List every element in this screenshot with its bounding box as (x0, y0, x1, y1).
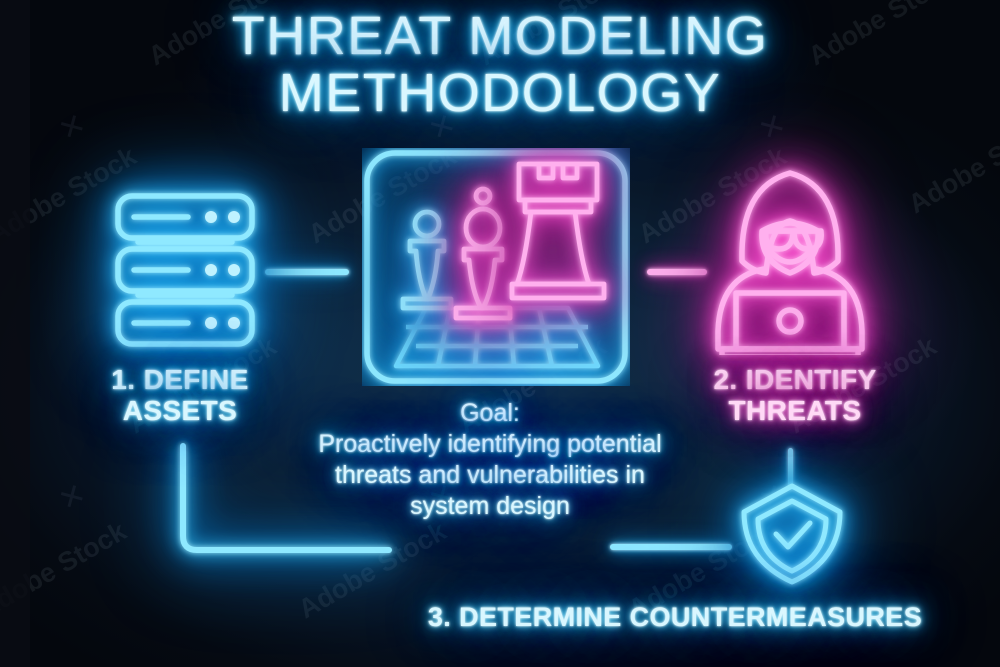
goal-line-2: threats and vulnerabilities in (335, 461, 645, 489)
connector-board-to-threats (647, 269, 707, 275)
goal-line-1: Proactively identifying potential (318, 430, 661, 458)
connector-assets-to-board (265, 269, 349, 275)
page-title-line-2: METHODOLOGY (279, 63, 722, 123)
sidebar-item-determine-countermeasures: 3. DETERMINE COUNTERMEASURES (350, 603, 1000, 633)
chessboard-pieces-icon (362, 148, 630, 386)
watermark-mark: ✕ (53, 476, 92, 519)
label-threats-line-1: 2. IDENTIFY (713, 364, 876, 395)
goal-text-block: Goal: Proactively identifying potential … (230, 398, 750, 522)
page-title: THREAT MODELING METHODOLOGY (0, 8, 1000, 121)
label-assets-line-1: 1. DEFINE (111, 364, 248, 395)
label-countermeasures-text: 3. DETERMINE COUNTERMEASURES (428, 602, 922, 632)
goal-line-3: system design (410, 492, 570, 520)
shield-check-icon (738, 482, 846, 586)
goal-heading: Goal: (230, 398, 750, 429)
hacker-hoodie-laptop-icon (700, 165, 880, 355)
watermark-bar: Adobe Stock | #1622705811 (0, 0, 30, 667)
poster-canvas: Adobe Stock Adobe Stock Adobe Stock Adob… (0, 0, 1000, 667)
page-title-line-1: THREAT MODELING (232, 6, 769, 66)
label-assets-line-2: ASSETS (123, 395, 237, 426)
connector-goal-to-shield (610, 544, 732, 550)
watermark-tile: Adobe Stock (903, 111, 1000, 220)
server-stack-icon (110, 190, 260, 350)
